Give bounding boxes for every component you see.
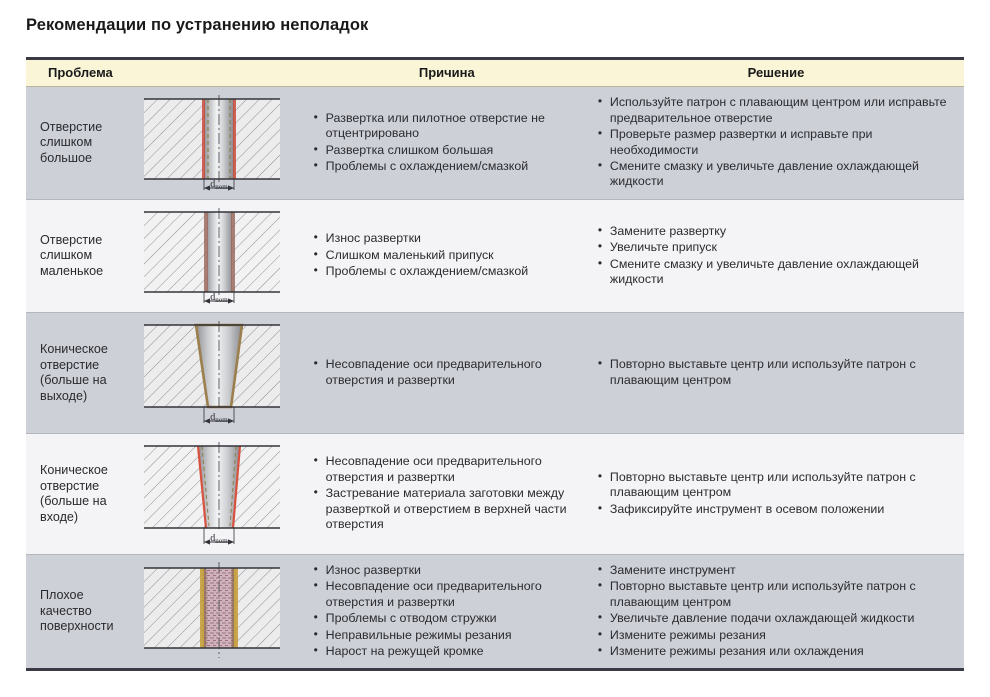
list-item: Проблемы с охлаждением/смазкой bbox=[314, 264, 578, 279]
list-item: Застревание материала заготовки между ра… bbox=[314, 486, 578, 532]
problem-label: Отверстие слишком маленькое bbox=[40, 233, 132, 280]
list-item: Износ развертки bbox=[314, 563, 578, 578]
list-item: Проблемы с отводом стружки bbox=[314, 611, 578, 626]
list-item: Развертка или пилотное отверстие не отце… bbox=[314, 111, 578, 142]
list-item: Увеличьте припуск bbox=[598, 240, 954, 255]
table-row: Отверстие слишком маленькое bbox=[26, 200, 964, 313]
table-row: Коническое отверстие (больше на входе) bbox=[26, 434, 964, 555]
problem-cell: Коническое отверстие (больше на входе) bbox=[26, 434, 306, 555]
list-item: Повторно выставьте центр или используйте… bbox=[598, 470, 954, 501]
list-item: Нарост на режущей кромке bbox=[314, 644, 578, 659]
cause-list: Развертка или пилотное отверстие не отце… bbox=[314, 111, 578, 175]
column-header-cause: Причина bbox=[306, 59, 588, 87]
problem-label: Коническое отверстие (больше на выходе) bbox=[40, 342, 132, 404]
list-item: Слишком маленький припуск bbox=[314, 248, 578, 263]
solution-cell: Используйте патрон с плавающим центром и… bbox=[588, 87, 964, 200]
problem-label: Коническое отверстие (больше на входе) bbox=[40, 463, 132, 525]
problem-cell: Коническое отверстие (больше на выходе) bbox=[26, 313, 306, 434]
list-item: Проверьте размер развертки и исправьте п… bbox=[598, 127, 954, 158]
problem-cell: Отверстие слишком большое bbox=[26, 87, 306, 200]
list-item: Используйте патрон с плавающим центром и… bbox=[598, 95, 954, 126]
cause-cell: Развертка или пилотное отверстие не отце… bbox=[306, 87, 588, 200]
diagram-straight-bore-undersize-icon: dnom bbox=[138, 206, 286, 306]
diagram-taper-wider-at-exit-icon: dnom bbox=[138, 319, 286, 427]
solution-list: Замените развертку Увеличьте припуск Сме… bbox=[598, 224, 954, 288]
dimension-subscript: nom bbox=[215, 416, 228, 424]
table-row: Отверстие слишком большое bbox=[26, 87, 964, 200]
dimension-subscript: nom bbox=[215, 183, 228, 191]
problem-label: Плохое качество поверхности bbox=[40, 588, 132, 635]
cause-cell: Несовпадение оси предварительного отверс… bbox=[306, 434, 588, 555]
cause-cell: Износ развертки Несовпадение оси предвар… bbox=[306, 555, 588, 670]
list-item: Смените смазку и увеличьте давление охла… bbox=[598, 159, 954, 190]
list-item: Несовпадение оси предварительного отверс… bbox=[314, 579, 578, 610]
table-header-row: Проблема Причина Решение bbox=[26, 59, 964, 87]
table-row: Плохое качество поверхности bbox=[26, 555, 964, 670]
table-body: Отверстие слишком большое bbox=[26, 87, 964, 670]
list-item: Проблемы с охлаждением/смазкой bbox=[314, 159, 578, 174]
list-item: Неправильные режимы резания bbox=[314, 628, 578, 643]
solution-list: Повторно выставьте центр или используйте… bbox=[598, 357, 954, 388]
list-item: Увеличьте давление подачи охлаждающей жи… bbox=[598, 611, 954, 626]
table-header: Проблема Причина Решение bbox=[26, 59, 964, 87]
cause-cell: Износ развертки Слишком маленький припус… bbox=[306, 200, 588, 313]
list-item: Повторно выставьте центр или используйте… bbox=[598, 357, 954, 388]
svg-text:dnom: dnom bbox=[210, 412, 228, 424]
cause-list: Несовпадение оси предварительного отверс… bbox=[314, 454, 578, 532]
solution-cell: Замените развертку Увеличьте припуск Сме… bbox=[588, 200, 964, 313]
list-item: Измените режимы резания bbox=[598, 628, 954, 643]
cause-list: Износ развертки Несовпадение оси предвар… bbox=[314, 563, 578, 659]
dimension-subscript: nom bbox=[215, 296, 228, 304]
solution-list: Повторно выставьте центр или используйте… bbox=[598, 470, 954, 517]
cause-cell: Несовпадение оси предварительного отверс… bbox=[306, 313, 588, 434]
column-header-solution: Решение bbox=[588, 59, 964, 87]
solution-cell: Замените инструмент Повторно выставьте ц… bbox=[588, 555, 964, 670]
table-row: Коническое отверстие (больше на выходе) bbox=[26, 313, 964, 434]
diagram-straight-bore-oversize-icon: dnom bbox=[138, 93, 286, 193]
list-item: Зафиксируйте инструмент в осевом положен… bbox=[598, 502, 954, 517]
diagram-taper-wider-at-entry-icon: dnom bbox=[138, 440, 286, 548]
list-item: Износ развертки bbox=[314, 231, 578, 246]
troubleshooting-page: Рекомендации по устранению неполадок Про… bbox=[0, 0, 990, 697]
list-item: Измените режимы резания или охлаждения bbox=[598, 644, 954, 659]
troubleshooting-table: Проблема Причина Решение Отверстие слишк… bbox=[26, 57, 964, 671]
solution-list: Используйте патрон с плавающим центром и… bbox=[598, 95, 954, 189]
column-header-problem: Проблема bbox=[26, 59, 306, 87]
svg-text:dnom: dnom bbox=[210, 533, 228, 545]
list-item: Замените инструмент bbox=[598, 563, 954, 578]
cause-list: Износ развертки Слишком маленький припус… bbox=[314, 231, 578, 279]
solution-cell: Повторно выставьте центр или используйте… bbox=[588, 313, 964, 434]
solution-list: Замените инструмент Повторно выставьте ц… bbox=[598, 563, 954, 659]
cause-list: Несовпадение оси предварительного отверс… bbox=[314, 357, 578, 388]
problem-cell: Плохое качество поверхности bbox=[26, 555, 306, 670]
list-item: Развертка слишком большая bbox=[314, 143, 578, 158]
problem-label: Отверстие слишком большое bbox=[40, 120, 132, 167]
list-item: Повторно выставьте центр или используйте… bbox=[598, 579, 954, 610]
diagram-rough-bore-surface-icon bbox=[138, 562, 286, 662]
dimension-subscript: nom bbox=[215, 537, 228, 545]
list-item: Замените развертку bbox=[598, 224, 954, 239]
solution-cell: Повторно выставьте центр или используйте… bbox=[588, 434, 964, 555]
list-item: Несовпадение оси предварительного отверс… bbox=[314, 357, 578, 388]
problem-cell: Отверстие слишком маленькое bbox=[26, 200, 306, 313]
list-item: Смените смазку и увеличьте давление охла… bbox=[598, 257, 954, 288]
page-title: Рекомендации по устранению неполадок bbox=[26, 16, 368, 35]
list-item: Несовпадение оси предварительного отверс… bbox=[314, 454, 578, 485]
